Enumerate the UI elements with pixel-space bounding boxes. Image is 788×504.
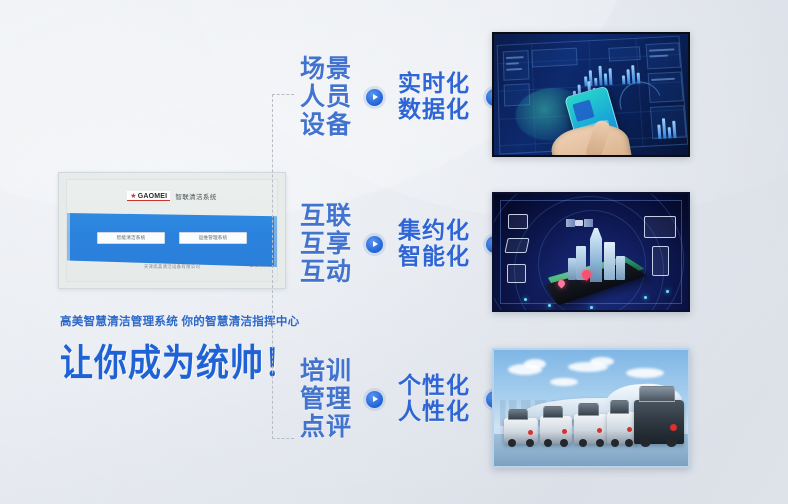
sky-background xyxy=(494,350,688,466)
panel-button-1[interactable]: 智能清洁系统 xyxy=(97,232,165,244)
row-2: 互联 互享 互动 集约化 智能化 xyxy=(300,202,503,286)
row-3-result-line-1: 个性化 xyxy=(398,373,470,399)
city-building xyxy=(568,258,576,280)
row-3-arrow-1-icon[interactable] xyxy=(366,391,383,408)
cleaning-machine-large xyxy=(634,400,684,444)
logo-wordmark: GAOMEI xyxy=(138,193,168,200)
row-3-source-line-1: 培训 xyxy=(300,357,352,385)
row-2-source-group: 互联 互享 互动 xyxy=(300,202,352,286)
central-tower xyxy=(590,228,602,282)
row-1-source-line-3: 设备 xyxy=(300,111,352,139)
row-1-result-line-1: 实时化 xyxy=(398,71,470,97)
row-1-source-line-1: 场景 xyxy=(300,55,352,83)
product-screenshot-panel: ★GAOMEI 智联清洁系统 智能清洁系统 运维管理系统 天津高美清洁设备有限公… xyxy=(58,172,286,289)
dashboard-screen xyxy=(494,34,688,155)
row-2-result-line-2: 智能化 xyxy=(398,244,470,270)
row-3-source-line-3: 点评 xyxy=(300,413,352,441)
panel-system-name: 智联清洁系统 xyxy=(175,191,216,201)
row-1-result-line-2: 数据化 xyxy=(398,97,470,123)
row-1-result-group: 实时化 数据化 xyxy=(398,71,470,123)
cleaning-machines-photo xyxy=(492,348,690,468)
logo-flag-icon: ★ xyxy=(130,192,136,200)
panel-footer-text: 天津高美清洁设备有限公司 xyxy=(67,264,277,270)
dotted-bracket-connector xyxy=(272,94,294,439)
laptop-icon xyxy=(504,238,529,253)
smart-city-illustration xyxy=(492,192,690,312)
building-icon xyxy=(507,264,526,283)
row-2-source-line-2: 互享 xyxy=(300,230,352,258)
factory-icon xyxy=(508,214,528,229)
row-1-source-line-2: 人员 xyxy=(300,83,352,111)
city-building xyxy=(616,256,625,280)
monitor-icon xyxy=(644,216,676,238)
cleaning-machine xyxy=(504,418,538,444)
row-2-source-line-3: 互动 xyxy=(300,258,352,286)
panel-inner-frame: ★GAOMEI 智联清洁系统 智能清洁系统 运维管理系统 天津高美清洁设备有限公… xyxy=(66,179,278,282)
cleaning-machine xyxy=(607,412,637,444)
panel-logo-row: ★GAOMEI 智联清洁系统 xyxy=(67,191,277,201)
row-2-result-line-1: 集约化 xyxy=(398,218,470,244)
row-1: 场景 人员 设备 实时化 数据化 xyxy=(300,55,503,139)
dashboard-phone-photo xyxy=(492,32,690,157)
row-2-arrow-1-icon[interactable] xyxy=(366,236,383,253)
row-3-source-group: 培训 管理 点评 xyxy=(300,357,352,441)
panel-button-group: 智能清洁系统 运维管理系统 xyxy=(67,232,277,244)
gaomei-logo: ★GAOMEI xyxy=(127,191,170,201)
row-3-source-line-2: 管理 xyxy=(300,385,352,413)
cleaning-machine xyxy=(574,414,608,444)
row-3-result-line-2: 人性化 xyxy=(398,399,470,425)
row-2-result-group: 集约化 智能化 xyxy=(398,218,470,270)
city-building xyxy=(604,242,615,280)
row-3-result-group: 个性化 人性化 xyxy=(398,373,470,425)
panel-button-2[interactable]: 运维管理系统 xyxy=(179,232,247,244)
row-1-source-group: 场景 人员 设备 xyxy=(300,55,352,139)
city-background xyxy=(494,194,688,310)
row-2-source-line-1: 互联 xyxy=(300,202,352,230)
row-3: 培训 管理 点评 个性化 人性化 xyxy=(300,357,503,441)
dotted-connector-stem xyxy=(250,266,274,267)
row-1-arrow-1-icon[interactable] xyxy=(366,89,383,106)
satellite-icon xyxy=(566,218,592,228)
cleaning-machine xyxy=(540,416,572,444)
mobile-icon xyxy=(652,246,669,276)
